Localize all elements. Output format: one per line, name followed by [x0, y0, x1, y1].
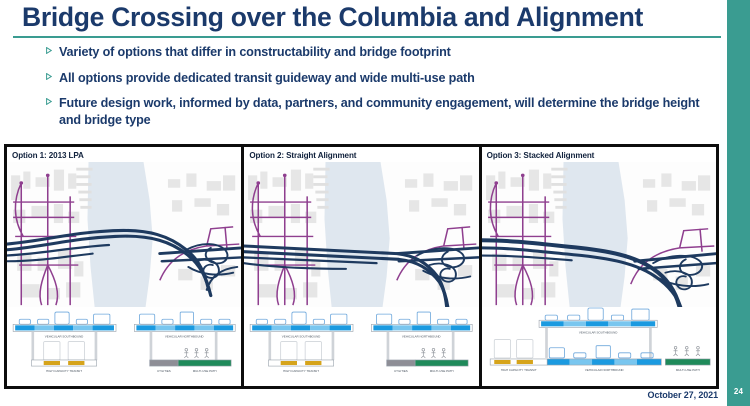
- option-panel-1-cross-section: VEHICULAR SOUTHBOUND HIGH: [7, 307, 241, 386]
- triangle-right-icon: [46, 95, 59, 105]
- xs-label-multi-use-path: MULTI-USE PATH: [193, 369, 217, 373]
- bullet-text: Variety of options that differ in constr…: [59, 44, 451, 60]
- list-item: Future design work, informed by data, pa…: [46, 95, 706, 127]
- xs-label-multi-use-path: MULTI-USE PATH: [430, 369, 454, 373]
- option-panel-2-cross-section: VEHICULAR SOUTHBOUND HIGH CAPACITY TRANS…: [244, 307, 478, 386]
- triangle-right-icon: [46, 70, 59, 80]
- bullet-text: All options provide dedicated transit gu…: [59, 70, 475, 86]
- slide-number: 24: [727, 387, 750, 396]
- option-panel-2[interactable]: Option 2: Straight Alignment: [244, 147, 478, 386]
- bullet-list: Variety of options that differ in constr…: [46, 44, 706, 137]
- option-panel-3-map: [482, 162, 716, 307]
- option-panel-1-map: [7, 162, 241, 307]
- xs-label-vehicular-northbound: VEHICULAR NORTHBOUND: [165, 334, 204, 338]
- xs-label-utilities: UTILITIES: [394, 369, 408, 373]
- footer-date: October 27, 2021: [648, 390, 718, 400]
- option-panel-3-cross-section: VEHICULAR SOUTHBOUND: [482, 307, 716, 386]
- option-panel-1-title: Option 1: 2013 LPA: [7, 147, 241, 162]
- xs-label-high-capacity-transit: HIGH CAPACITY TRANSIT: [500, 368, 536, 372]
- option-panel-2-map: [244, 162, 478, 307]
- option-panel-3[interactable]: Option 3: Stacked Alignment: [482, 147, 716, 386]
- xs-label-high-capacity-transit: HIGH CAPACITY TRANSIT: [283, 369, 319, 373]
- title-divider: [13, 36, 721, 38]
- list-item: Variety of options that differ in constr…: [46, 44, 706, 60]
- option-panel-1[interactable]: Option 1: 2013 LPA: [7, 147, 241, 386]
- xs-label-high-capacity-transit: HIGH CAPACITY TRANSIT: [46, 369, 82, 373]
- xs-label-vehicular-southbound: VEHICULAR SOUTHBOUND: [579, 330, 618, 334]
- xs-label-vehicular-southbound: VEHICULAR SOUTHBOUND: [45, 334, 84, 338]
- xs-label-utilities: UTILITIES: [157, 369, 171, 373]
- option-panel-3-title: Option 3: Stacked Alignment: [482, 147, 716, 162]
- xs-label-vehicular-northbound: VEHICULAR NORTHBOUND: [402, 334, 441, 338]
- bullet-text: Future design work, informed by data, pa…: [59, 95, 706, 127]
- triangle-right-icon: [46, 44, 59, 54]
- xs-label-vehicular-southbound: VEHICULAR SOUTHBOUND: [282, 334, 321, 338]
- slide-root: Bridge Crossing over the Columbia and Al…: [0, 0, 750, 406]
- teal-side-bar: [727, 0, 750, 406]
- list-item: All options provide dedicated transit gu…: [46, 70, 706, 86]
- xs-label-multi-use-path: MULTI-USE PATH: [676, 368, 700, 372]
- xs-label-vehicular-northbound: VEHICULAR NORTHBOUND: [585, 368, 624, 372]
- page-title: Bridge Crossing over the Columbia and Al…: [22, 3, 712, 33]
- options-panel-group: Option 1: 2013 LPA: [4, 144, 719, 389]
- option-panel-2-title: Option 2: Straight Alignment: [244, 147, 478, 162]
